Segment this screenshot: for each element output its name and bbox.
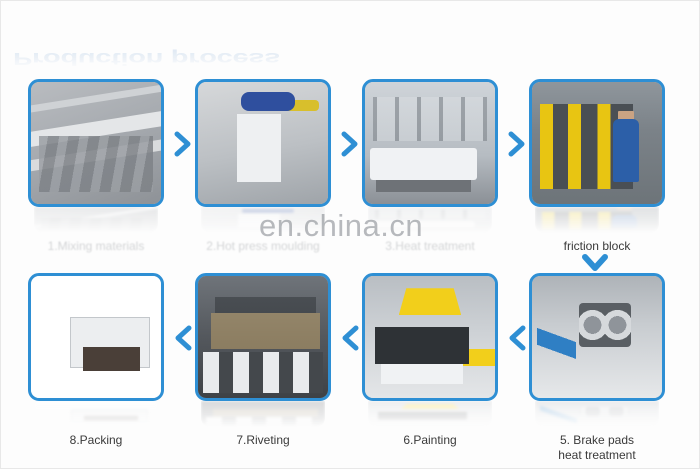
- process-step-5-photo: [529, 273, 665, 401]
- chevron-right-icon: [173, 131, 193, 157]
- process-step-6-caption: 6.Painting: [362, 433, 498, 447]
- process-step-5: 5. Brake padsheat treatment: [529, 273, 665, 463]
- process-step-1-reflection: [34, 207, 158, 233]
- process-step-2-reflection: [201, 207, 325, 233]
- process-step-4-caption: friction block: [529, 239, 665, 253]
- process-step-3: 3.Heat treatment: [362, 79, 498, 253]
- process-step-4-reflection: [535, 207, 659, 233]
- process-step-3-photo: [362, 79, 498, 207]
- process-step-7-reflection: [201, 401, 325, 427]
- process-step-8: 8.Packing: [28, 273, 164, 447]
- page-title-reflection: Production process: [13, 48, 433, 69]
- process-step-7-photo: [195, 273, 331, 401]
- chevron-left-icon: [507, 325, 527, 351]
- photo-scene-packing: [31, 276, 161, 398]
- photo-scene-brake-pads-heat-treatment: [532, 276, 662, 398]
- process-step-2: 2.Hot press moulding: [195, 79, 331, 253]
- process-step-6-reflection: [368, 401, 492, 427]
- process-step-8-caption: 8.Packing: [28, 433, 164, 447]
- process-step-6: 6.Painting: [362, 273, 498, 447]
- production-process-infographic: Production process Production process 1.…: [0, 0, 700, 469]
- photo-scene-hot-press: [198, 82, 328, 204]
- photo-scene-heat-treatment: [365, 82, 495, 204]
- chevron-right-icon: [507, 131, 527, 157]
- process-step-3-reflection: [368, 207, 492, 233]
- process-step-6-photo: [362, 273, 498, 401]
- process-step-8-reflection: [34, 401, 158, 427]
- process-row-top: 1.Mixing materials 2.Hot press moulding: [1, 79, 700, 254]
- photo-scene-painting: [365, 276, 495, 398]
- process-step-4: friction block: [529, 79, 665, 253]
- process-step-7: 7.Riveting: [195, 273, 331, 447]
- process-step-4-photo: [529, 79, 665, 207]
- page-title-text: Production process: [13, 15, 433, 49]
- chevron-left-icon: [340, 325, 360, 351]
- process-row-bottom: 8.Packing 7.Riveting 6.Painting: [1, 273, 700, 448]
- photo-scene-mixing: [31, 82, 161, 204]
- process-step-5-reflection: [535, 401, 659, 427]
- process-step-3-caption: 3.Heat treatment: [362, 239, 498, 253]
- process-step-1: 1.Mixing materials: [28, 79, 164, 253]
- process-step-1-caption: 1.Mixing materials: [28, 239, 164, 253]
- chevron-right-icon: [340, 131, 360, 157]
- process-step-2-caption: 2.Hot press moulding: [195, 239, 331, 253]
- chevron-down-icon: [581, 253, 609, 273]
- process-step-1-photo: [28, 79, 164, 207]
- process-step-7-caption: 7.Riveting: [195, 433, 331, 447]
- process-step-2-photo: [195, 79, 331, 207]
- page-title: Production process Production process: [13, 15, 433, 71]
- photo-scene-friction-block: [532, 82, 662, 204]
- process-step-8-photo: [28, 273, 164, 401]
- process-step-5-caption: 5. Brake padsheat treatment: [529, 433, 665, 463]
- photo-scene-riveting: [198, 276, 328, 398]
- chevron-left-icon: [173, 325, 193, 351]
